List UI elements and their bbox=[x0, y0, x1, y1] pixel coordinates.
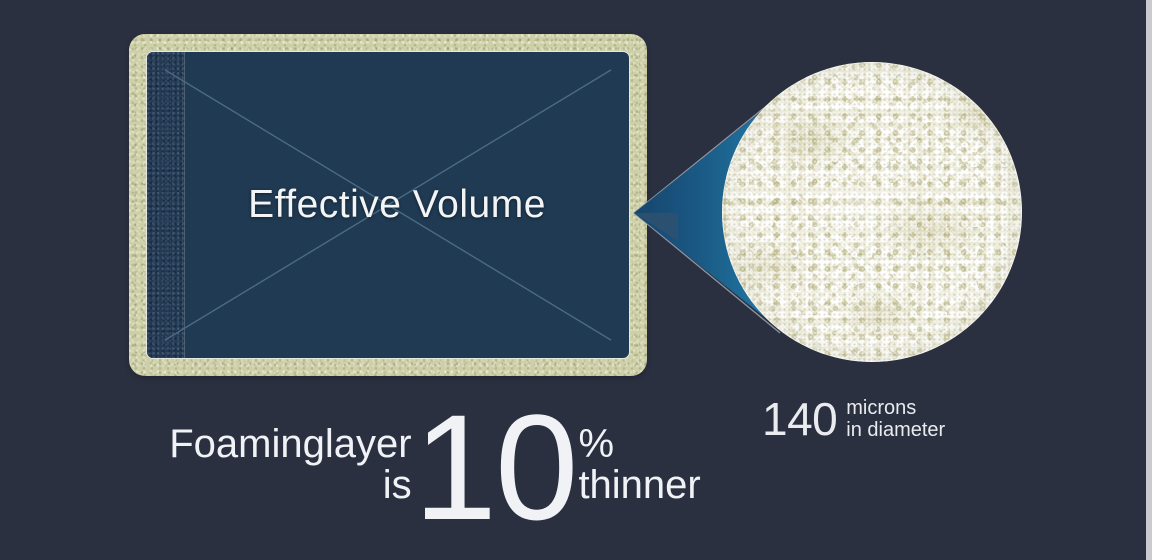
foam-circle-rim bbox=[722, 62, 1022, 362]
stat-thinner-unit: % bbox=[578, 424, 614, 465]
infographic-canvas: Effective Volume bbox=[0, 0, 1152, 560]
foam-microstructure-circle bbox=[722, 62, 1022, 362]
stat-thinner-left: Foaminglayer is bbox=[169, 424, 411, 510]
stat-microns-unit: microns in diameter bbox=[846, 397, 945, 442]
effective-volume-panel: Effective Volume bbox=[146, 51, 630, 359]
effective-volume-box: Effective Volume bbox=[129, 34, 647, 376]
stat-thinner-value: 10 bbox=[414, 403, 577, 532]
stat-thinner-line2: is bbox=[383, 465, 412, 506]
page-title: Effective Volume bbox=[147, 183, 629, 227]
stat-thinner: Foaminglayer is 10 % thinner bbox=[150, 392, 720, 542]
stat-thinner-line3: thinner bbox=[578, 465, 700, 506]
stat-thinner-line1: Foaminglayer bbox=[169, 424, 411, 465]
stat-microns-value: 140 bbox=[762, 396, 837, 442]
stat-microns: 140 microns in diameter bbox=[762, 396, 945, 442]
right-edge-strip bbox=[1146, 0, 1152, 560]
stat-thinner-right: % thinner bbox=[578, 424, 700, 510]
stat-microns-unit-line1: microns bbox=[846, 397, 945, 419]
stat-microns-unit-line2: in diameter bbox=[846, 419, 945, 441]
